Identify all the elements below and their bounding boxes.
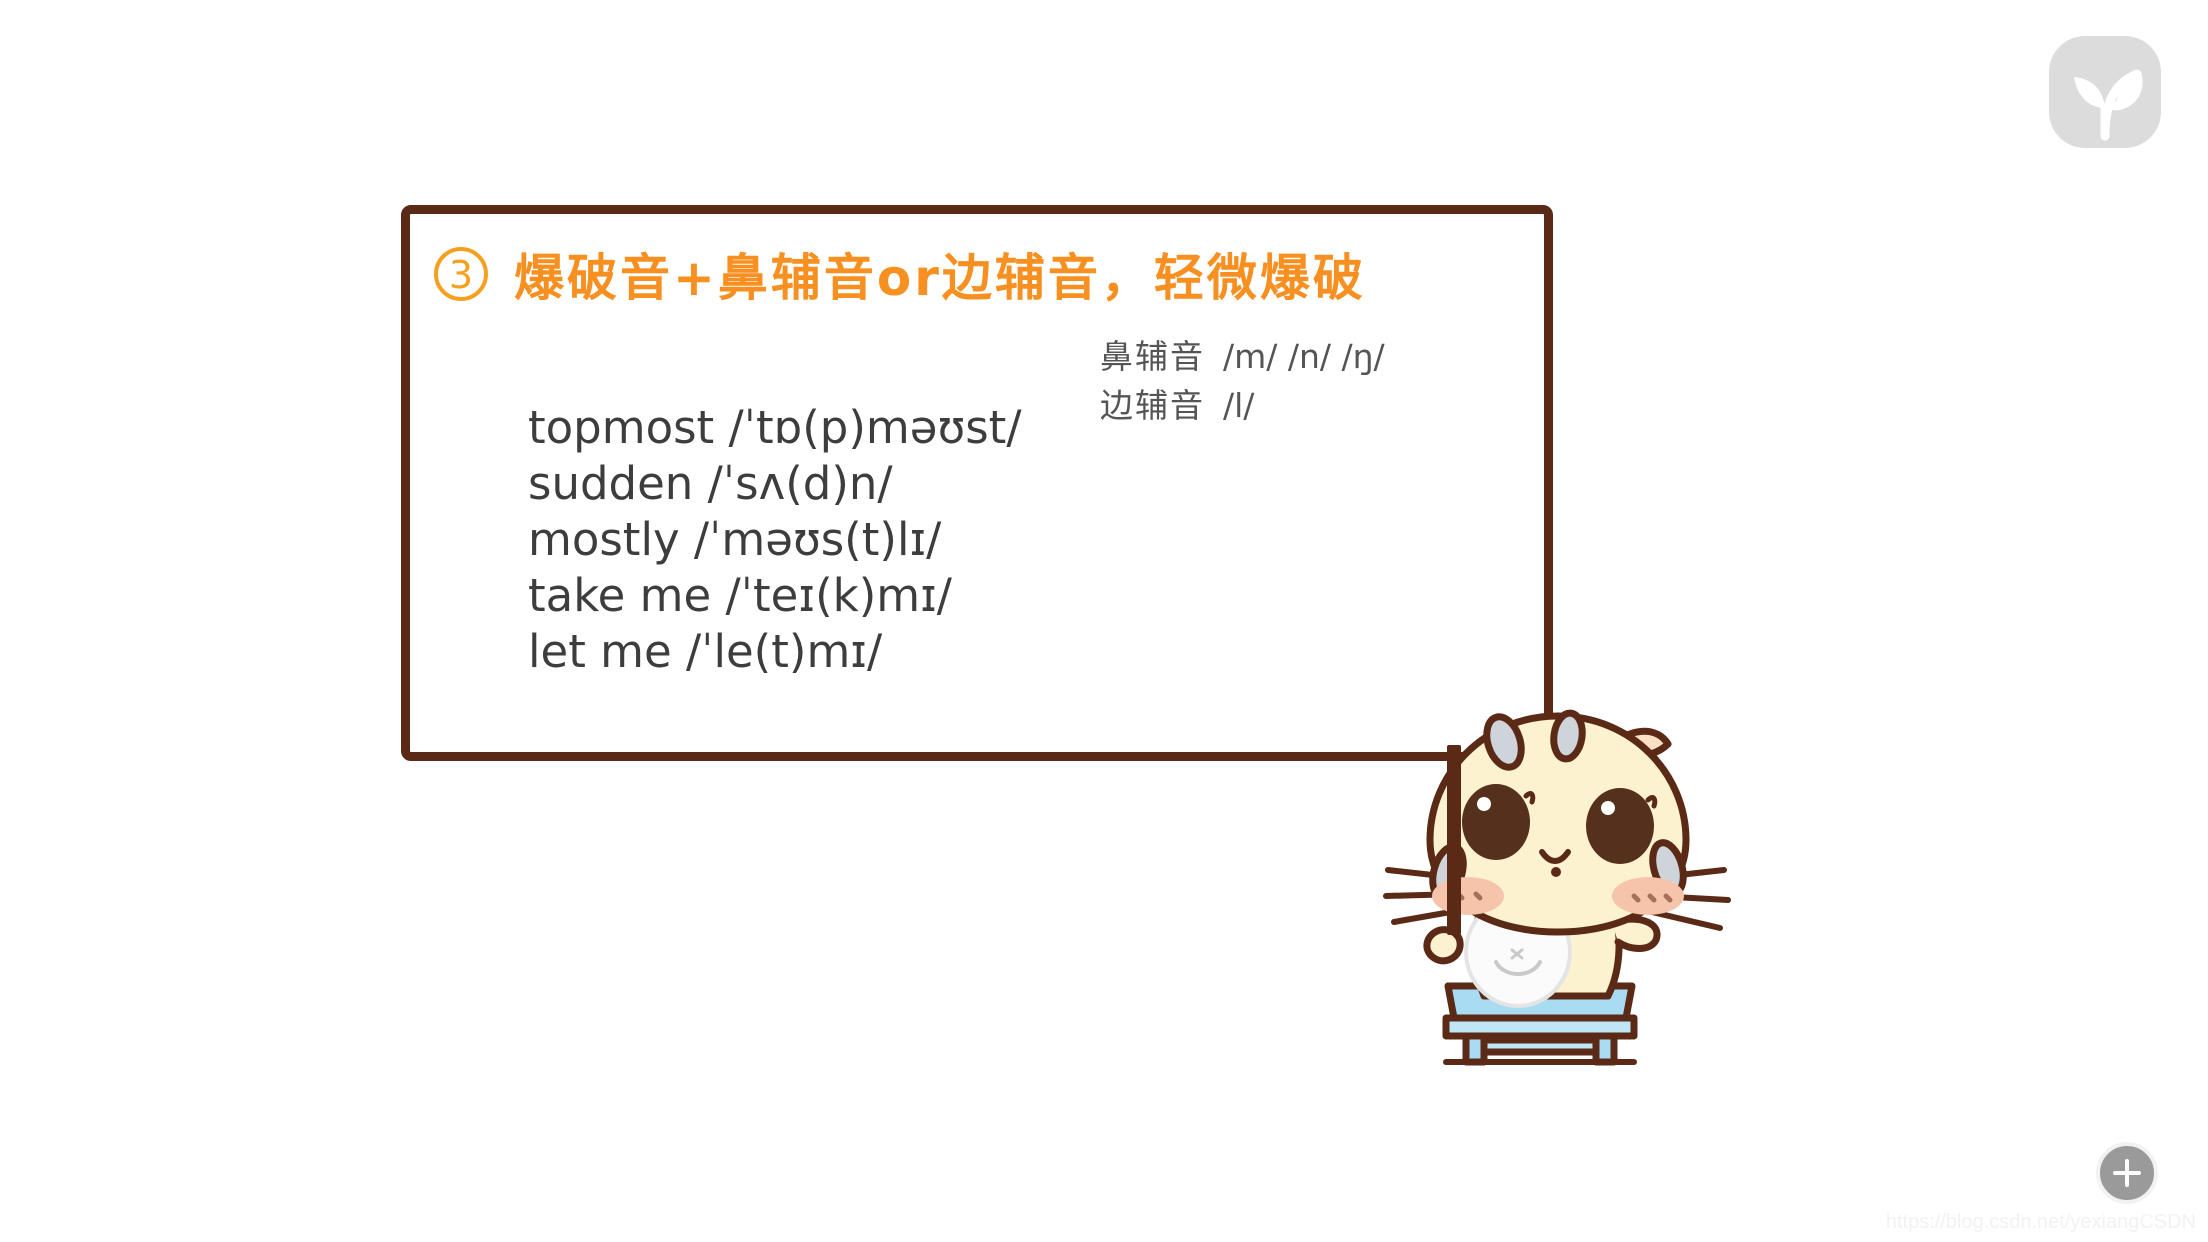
page-title: 爆破音+鼻辅音or边辅音，轻微爆破: [514, 238, 1366, 310]
note-row: 边辅音/l/: [1100, 381, 1385, 430]
note-label: 边辅音: [1100, 386, 1205, 425]
word-list-item: topmost /ˈtɒ(p)məʊst/: [528, 400, 1021, 456]
word-list-item: let me /ˈle(t)mɪ/: [528, 624, 1021, 680]
sign-pole: [1447, 745, 1461, 935]
word-list: topmost /ˈtɒ(p)məʊst/ sudden /ˈsʌ(d)n/ m…: [528, 400, 1021, 680]
note-row: 鼻辅音/m/ /n/ /ŋ/: [1100, 332, 1385, 381]
board-title: 3 爆破音+鼻辅音or边辅音，轻微爆破: [434, 238, 1366, 310]
add-button[interactable]: [2096, 1142, 2158, 1204]
consonant-notes: 鼻辅音/m/ /n/ /ŋ/ 边辅音/l/: [1100, 332, 1385, 430]
word-list-item: take me /ˈteɪ(k)mɪ/: [528, 568, 1021, 624]
watermark: https://blog.csdn.net/yexiangCSDN: [1886, 1211, 2196, 1234]
note-ipa: /l/: [1223, 386, 1254, 425]
title-number-badge: 3: [434, 247, 488, 301]
note-label: 鼻辅音: [1100, 337, 1205, 376]
word-list-item: mostly /ˈməʊs(t)lɪ/: [528, 512, 1021, 568]
sign-board: 3 爆破音+鼻辅音or边辅音，轻微爆破 鼻辅音/m/ /n/ /ŋ/ 边辅音/l…: [401, 205, 1553, 761]
cat-mascot: [1380, 700, 1740, 1080]
note-ipa: /m/ /n/ /ŋ/: [1223, 337, 1385, 376]
word-list-item: sudden /ˈsʌ(d)n/: [528, 456, 1021, 512]
sprout-logo: [2045, 32, 2165, 152]
